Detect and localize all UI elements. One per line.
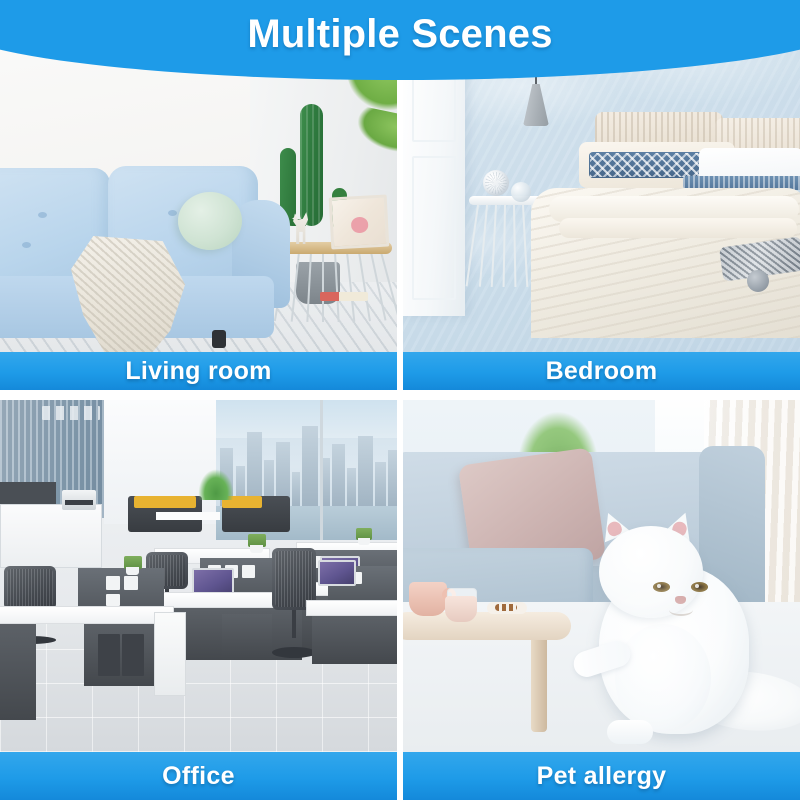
office-photo	[0, 400, 397, 800]
throw-pompom	[747, 270, 769, 292]
grid-gutter-horizontal	[0, 390, 800, 400]
round-coffee-table	[403, 612, 571, 640]
pink-mug	[409, 582, 447, 616]
side-table-wire-base	[286, 252, 382, 322]
cactus-tall	[300, 104, 323, 226]
window-mullion	[320, 400, 323, 540]
decorative-sphere-lattice	[483, 170, 509, 196]
pink-cup-small	[445, 596, 477, 622]
coffee-table-leg	[531, 636, 547, 732]
side-table-books	[320, 292, 368, 301]
pet-allergy-photo	[403, 400, 800, 800]
decorative-sphere-glass	[511, 182, 531, 202]
desk-far-right-surface	[306, 600, 397, 616]
tile-caption-pet-allergy: Pet allergy	[403, 752, 800, 800]
desk-drawer-a[interactable]	[98, 634, 120, 676]
white-persian-cat	[563, 504, 779, 744]
desk-plant-pot-back	[358, 538, 370, 545]
picture-frame	[329, 195, 390, 250]
page-title: Multiple Scenes	[0, 0, 800, 68]
tile-caption-bedroom: Bedroom	[403, 352, 800, 390]
cat-chest	[615, 624, 711, 732]
desk-base-front-left-2	[84, 624, 156, 686]
bed-pillow-blue-pattern	[589, 152, 715, 178]
tile-caption-office: Office	[0, 752, 397, 800]
cat-nose	[675, 596, 686, 604]
office-cabinet	[0, 504, 102, 568]
office-plant	[196, 466, 236, 500]
scene-grid: Living room	[0, 0, 800, 800]
desk-base-front-left	[0, 624, 36, 720]
desk-pedestal[interactable]	[154, 612, 186, 696]
desk-plant-pot-front-left	[126, 567, 139, 575]
snack-plate	[487, 602, 527, 614]
office-wall-signage	[42, 406, 100, 420]
cat-head	[599, 526, 703, 618]
desk-front-left-surface	[0, 606, 174, 624]
cat-eye-right	[691, 582, 708, 592]
desk-base-right-mid	[222, 614, 272, 660]
cat-eye-left	[653, 582, 670, 592]
scene-tile-office[interactable]: Office	[0, 400, 397, 800]
bed-duvet-fold-lower	[559, 218, 797, 238]
desk-base-far-right	[312, 616, 397, 664]
scene-tile-pet-allergy[interactable]: Pet allergy	[403, 400, 800, 800]
round-cushion	[178, 192, 242, 250]
tile-caption-living-room: Living room	[0, 352, 397, 390]
office-printer	[62, 490, 96, 510]
desk-drawer-b[interactable]	[122, 634, 144, 676]
monitor-far-right	[318, 560, 356, 586]
cat-front-paw-resting	[607, 720, 653, 744]
desk-plant-pot-middle	[250, 545, 263, 553]
cat-mouth	[669, 604, 693, 616]
lounge-coffee-table	[156, 512, 220, 520]
sofa-leg	[212, 330, 226, 348]
lounge-sofa-yellow-cushion	[134, 496, 196, 508]
poster-root: Living room	[0, 0, 800, 800]
